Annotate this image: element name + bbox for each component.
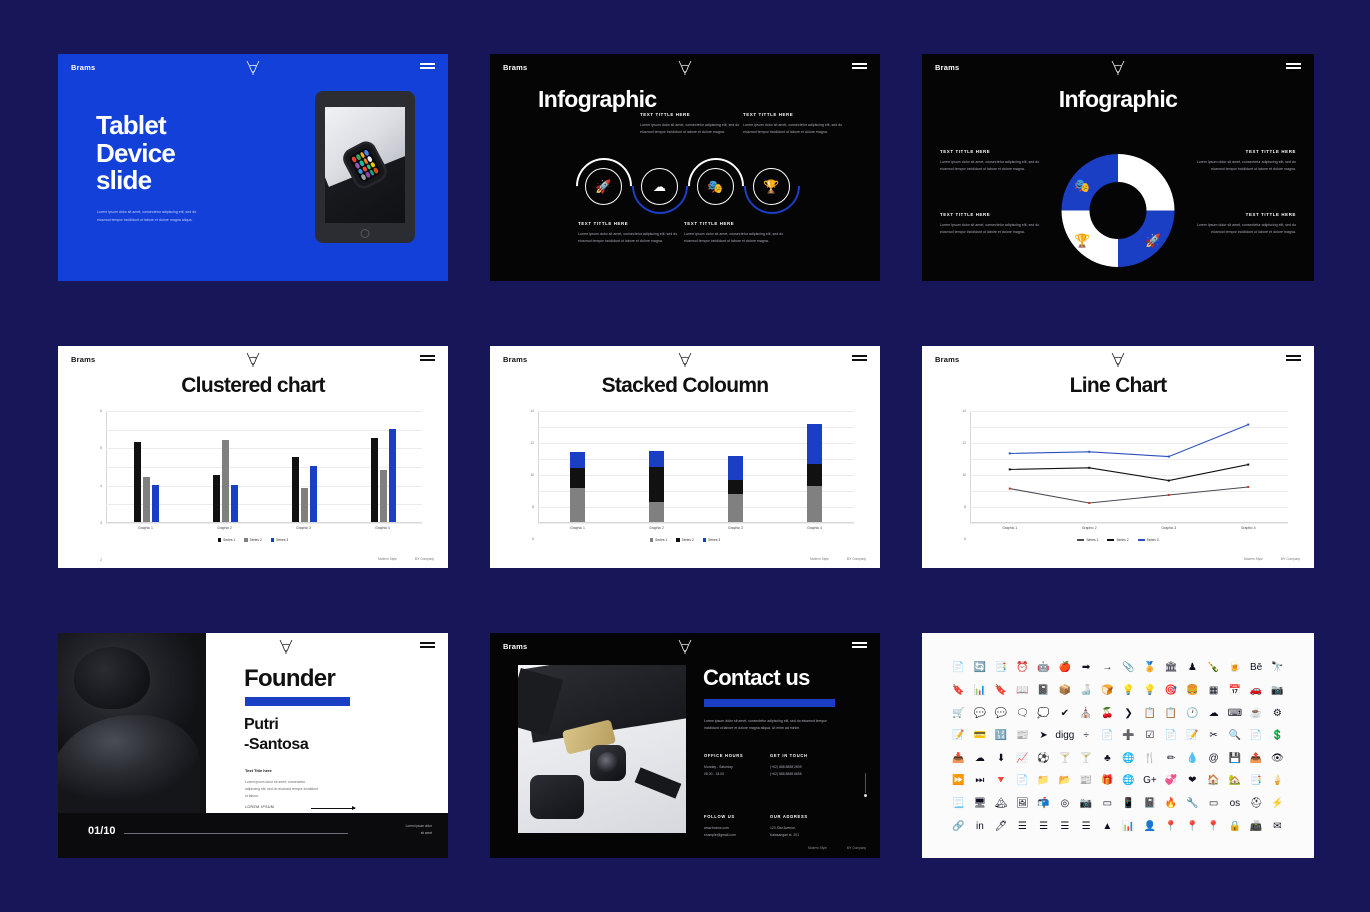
- sheet-icon-r2-c4[interactable]: 📖: [1016, 686, 1028, 696]
- arrow-right-icon: [311, 808, 355, 809]
- sheet-icon-r4-c9[interactable]: ➕: [1122, 731, 1134, 741]
- slide-infographic-circles[interactable]: Brams Infographic 🚀 ☁ 🎭 🏆 TEXT TITTLE HE: [490, 54, 880, 281]
- bar-segment: [649, 467, 664, 502]
- legend-label: Series 3: [276, 538, 288, 542]
- sheet-icon-r7-c4[interactable]: 🖼: [1016, 799, 1029, 809]
- slide-infographic-donut[interactable]: Brams Infographic 🎭 ☁ 🚀 🏆 TEXT TITTLE HE…: [922, 54, 1314, 281]
- brand-label: Brams: [935, 63, 959, 72]
- data-point: [1088, 502, 1090, 504]
- menu-icon[interactable]: [852, 63, 867, 69]
- brand-label: Brams: [503, 63, 527, 72]
- menu-icon[interactable]: [420, 63, 435, 69]
- legend-swatch: [1138, 539, 1145, 540]
- bar: [213, 475, 221, 522]
- segment-theater-masks-icon[interactable]: 🎭: [1074, 176, 1092, 194]
- x-tick-label: Graphic 2: [1050, 526, 1130, 530]
- donut-block-left-bottom: TEXT TITTLE HERE Lorem ipsum dolor sit a…: [940, 212, 1052, 237]
- sheet-icon-r3-c4[interactable]: 🗨: [1016, 709, 1029, 719]
- sheet-icon-r7-c3[interactable]: 🏔: [995, 799, 1008, 809]
- col-heading: OUR ADDRESS: [770, 814, 836, 819]
- block-heading: TEXT TITTLE HERE: [940, 149, 1052, 154]
- legend-swatch: [218, 538, 221, 541]
- x-tick-label: Graphic 3: [696, 526, 775, 530]
- slide-header: Brams: [490, 633, 880, 659]
- sheet-icon-r2-c13[interactable]: ▦: [1209, 686, 1218, 696]
- founder-panel: Founder Putri-Santosa Text Title here Lo…: [206, 633, 448, 813]
- sheet-icon-r8-c1[interactable]: 🔗: [952, 822, 964, 832]
- info-block-bottom-1: TEXT TITTLE HERE Lorem ipsum dolor sit a…: [578, 221, 690, 246]
- sheet-icon-r2-c5[interactable]: 📓: [1037, 686, 1049, 696]
- col-heading: FOLLOW US: [704, 814, 770, 819]
- x-tick-label: Graphic 3: [1129, 526, 1209, 530]
- sheet-icon-r7-c11[interactable]: 🔥: [1165, 799, 1177, 809]
- sheet-icon-r1-c6[interactable]: 🍎: [1059, 663, 1071, 673]
- donut-chart: 🎭 ☁ 🚀 🏆: [1062, 154, 1175, 267]
- founder-footer: 01/10 Lorem ipsum dolorsit amet: [58, 811, 448, 858]
- sheet-icon-r6-c1[interactable]: ⏩: [952, 776, 964, 786]
- data-point: [1168, 480, 1170, 482]
- sheet-icon-r5-c3[interactable]: ⬇: [997, 754, 1005, 764]
- block-body: Lorem ipsum dolor sit amet, consectetur …: [1184, 222, 1296, 237]
- block-body: Lorem ipsum dolor sit amet, consectetur …: [1184, 159, 1296, 174]
- sheet-icon-r7-c7[interactable]: 📷: [1080, 799, 1092, 809]
- line-series: [1010, 425, 1249, 457]
- x-axis-categories: Graphic 1Graphic 2Graphic 3Graphic 4: [106, 526, 422, 530]
- bar-segment: [649, 451, 664, 467]
- stacked-bar: [649, 451, 664, 522]
- bar-segment: [728, 494, 743, 522]
- sheet-icon-r6-c13[interactable]: 🏠: [1207, 776, 1219, 786]
- bar-segment: [728, 456, 743, 480]
- brand-label: Brams: [503, 642, 527, 651]
- menu-icon[interactable]: [1286, 63, 1301, 69]
- sheet-icon-r4-c10[interactable]: ☑: [1145, 731, 1154, 741]
- slide-header: Brams: [922, 54, 1314, 80]
- footer-note: Lorem ipsum dolorsit amet: [406, 823, 432, 836]
- sheet-icon-r5-c15[interactable]: 📤: [1250, 754, 1262, 764]
- bar-group: [371, 429, 397, 522]
- slide-header: Brams: [58, 346, 448, 372]
- sheet-icon-r1-c7[interactable]: ➡: [1082, 663, 1090, 673]
- footer-left: Modern Style: [808, 846, 827, 850]
- sheet-icon-r8-c4[interactable]: ☰: [1018, 822, 1027, 832]
- contact-product-image: [518, 665, 686, 833]
- slide-footer: Modern Style MY Company: [810, 557, 866, 561]
- sheet-icon-r7-c10[interactable]: 📓: [1144, 799, 1156, 809]
- bar-group: [292, 457, 318, 522]
- brand-label: Brams: [503, 355, 527, 364]
- sheet-icon-r3-c2[interactable]: 💬: [974, 709, 986, 719]
- contact-body-text: Lorem ipsum dolor sit amet, consectetur …: [704, 718, 832, 732]
- sheet-icon-r1-c5[interactable]: 🤖: [1037, 663, 1049, 673]
- sheet-icon-r4-c11[interactable]: 📄: [1165, 731, 1177, 741]
- segment-rocket-icon[interactable]: 🚀: [1145, 231, 1163, 249]
- bar: [152, 485, 160, 522]
- sheet-icon-r7-c16[interactable]: ⚡: [1271, 799, 1283, 809]
- legend-label: Series 1: [655, 538, 667, 542]
- legend-label: Series 1: [1086, 538, 1098, 542]
- info-block-bottom-2: TEXT TITTLE HERE Lorem ipsum dolor sit a…: [684, 221, 796, 246]
- sheet-icon-r2-c3[interactable]: 🔖: [995, 686, 1007, 696]
- sheet-icon-r5-c1[interactable]: 📥: [952, 754, 964, 764]
- legend-swatch: [703, 538, 706, 541]
- sheet-icon-r1-c12[interactable]: ♟: [1188, 663, 1197, 673]
- sheet-icon-r3-c5[interactable]: 💭: [1037, 709, 1049, 719]
- donut-block-right-bottom: TEXT TITTLE HERE Lorem ipsum dolor sit a…: [1184, 212, 1296, 237]
- slide-contact-us[interactable]: Brams Contact us Lorem ipsum dolor sit a…: [490, 633, 880, 858]
- sheet-icon-r4-c16[interactable]: 💲: [1271, 731, 1283, 741]
- node-rocket-icon[interactable]: 🚀: [585, 168, 622, 205]
- sheet-icon-r1-c15[interactable]: Bē: [1250, 663, 1262, 673]
- sheet-icon-r4-c8[interactable]: 📄: [1101, 731, 1113, 741]
- sheet-icon-r3-c10[interactable]: 📋: [1144, 709, 1156, 719]
- sheet-icon-r6-c9[interactable]: 🌐: [1122, 776, 1134, 786]
- legend-label: Series 2: [682, 538, 694, 542]
- sheet-icon-r6-c5[interactable]: 📁: [1037, 776, 1049, 786]
- sheet-icon-r6-c3[interactable]: 🔻: [995, 776, 1007, 786]
- footer-right: MY Company: [847, 846, 866, 850]
- sheet-icon-r1-c10[interactable]: 🏅: [1144, 663, 1156, 673]
- slide-icon-sheet[interactable]: 📄🔄📑⏰🤖🍎➡→📎🏅🏛♟🍾🍺Bē🔭🔖📊🔖📖📓📦🍶🍞💡💡🎯🍔▦📅🚗📷🛒💬💬🗨💭✔⛪…: [922, 633, 1314, 858]
- bar-group: [134, 442, 160, 522]
- sheet-icon-r8-c11[interactable]: 📍: [1165, 822, 1177, 832]
- block-heading: TEXT TITTLE HERE: [940, 212, 1052, 217]
- gridline: 6: [106, 411, 422, 412]
- sheet-icon-r8-c15[interactable]: 📠: [1250, 822, 1262, 832]
- sheet-icon-r6-c10[interactable]: G+: [1143, 776, 1157, 786]
- sheet-icon-r5-c2[interactable]: ☁: [975, 754, 985, 764]
- sheet-icon-r5-c16[interactable]: 👁: [1271, 754, 1284, 764]
- segment-cloud-icon[interactable]: ☁: [1145, 176, 1163, 194]
- sheet-icon-r2-c10[interactable]: 💡: [1144, 686, 1156, 696]
- sheet-icon-r6-c14[interactable]: 🏡: [1229, 776, 1241, 786]
- legend-item: Series 3: [703, 538, 721, 542]
- sheet-icon-r8-c12[interactable]: 📍: [1186, 822, 1198, 832]
- sheet-icon-r1-c11[interactable]: 🏛: [1165, 663, 1178, 673]
- brams-logo-icon: [245, 351, 261, 369]
- sheet-icon-r2-c6[interactable]: 📦: [1059, 686, 1071, 696]
- smartwatch-image: [343, 141, 387, 189]
- founder-name: Putri-Santosa: [244, 715, 308, 754]
- sheet-icon-r8-c7[interactable]: ☰: [1082, 822, 1091, 832]
- sheet-icon-r4-c12[interactable]: 📝: [1186, 731, 1198, 741]
- brams-logo-icon: [1110, 59, 1126, 77]
- brams-logo-icon: [245, 59, 261, 77]
- sheet-icon-r7-c15[interactable]: ⛑: [1250, 799, 1263, 809]
- data-point: [1247, 464, 1249, 466]
- clustered-chart-plot: 0123456: [106, 411, 422, 523]
- chart-legend: Series 1Series 2Series 3: [490, 538, 880, 542]
- sheet-icon-r8-c9[interactable]: 📊: [1122, 822, 1134, 832]
- segment-trophy-icon[interactable]: 🏆: [1074, 231, 1092, 249]
- sheet-icon-r5-c12[interactable]: 💧: [1186, 754, 1198, 764]
- y-tick-label: 6: [100, 409, 102, 413]
- infographic-node-row: 🚀 ☁ 🎭 🏆: [580, 162, 816, 210]
- sheet-icon-r4-c15[interactable]: 📄: [1250, 731, 1262, 741]
- sheet-icon-r6-c15[interactable]: 📑: [1250, 776, 1262, 786]
- sheet-icon-r4-c1[interactable]: 📝: [952, 731, 964, 741]
- sheet-icon-r2-c2[interactable]: 📊: [974, 686, 986, 696]
- sheet-icon-r3-c8[interactable]: 🍒: [1101, 709, 1113, 719]
- founder-portrait-image: [58, 633, 206, 813]
- line-series: [1010, 487, 1249, 503]
- sheet-icon-r2-c9[interactable]: 💡: [1122, 686, 1134, 696]
- sheet-icon-r4-c3[interactable]: 🔢: [995, 731, 1007, 741]
- slide-line-chart[interactable]: Brams Line Chart 02468101214 Graphic 1Gr…: [922, 346, 1314, 568]
- sheet-icon-r5-c7[interactable]: 🍸: [1080, 754, 1092, 764]
- bar: [389, 429, 397, 522]
- legend-swatch: [1107, 539, 1114, 540]
- sheet-icon-r4-c14[interactable]: 🔍: [1229, 731, 1241, 741]
- bar-segment: [570, 488, 585, 522]
- col-heading: OFFICE HOURS: [704, 753, 770, 758]
- slide-title: Infographic: [922, 86, 1314, 113]
- sheet-icon-r3-c6[interactable]: ✔: [1061, 709, 1069, 719]
- line-series-layer: [970, 411, 1288, 523]
- sheet-icon-r7-c12[interactable]: 🔧: [1186, 799, 1198, 809]
- sheet-icon-r1-c2[interactable]: 🔄: [974, 663, 986, 673]
- x-tick-label: Graphic 1: [970, 526, 1050, 530]
- sheet-icon-r3-c16[interactable]: ⚙: [1273, 709, 1282, 719]
- y-tick-label: 12: [530, 441, 534, 445]
- legend-label: Series 2: [250, 538, 262, 542]
- bar: [134, 442, 142, 522]
- brams-logo-icon: [677, 351, 693, 369]
- legend-label: Series 2: [1116, 538, 1128, 542]
- sheet-icon-r4-c13[interactable]: ✂: [1209, 731, 1217, 741]
- sheet-icon-r6-c4[interactable]: 📄: [1016, 776, 1028, 786]
- page-number: 01/10: [88, 825, 116, 837]
- cta-link[interactable]: LOREM IPSUM: [245, 805, 274, 809]
- sheet-icon-r5-c4[interactable]: 📈: [1016, 754, 1028, 764]
- col-lines: Monday - Saturday08.00 - 18.00: [704, 764, 770, 778]
- sheet-icon-r1-c9[interactable]: 📎: [1122, 663, 1134, 673]
- sheet-icon-r3-c11[interactable]: 📋: [1165, 709, 1177, 719]
- x-tick-label: Graphic 1: [538, 526, 617, 530]
- sheet-icon-r4-c7[interactable]: ÷: [1083, 731, 1089, 741]
- bar: [231, 485, 239, 522]
- sheet-icon-r7-c14[interactable]: os: [1230, 799, 1241, 809]
- legend-swatch: [244, 538, 247, 541]
- footer-divider: [124, 833, 348, 834]
- sheet-icon-r8-c14[interactable]: 🔒: [1229, 822, 1241, 832]
- slide-footer: Modern Style MY Company: [378, 557, 434, 561]
- sheet-icon-r3-c15[interactable]: ☕: [1250, 709, 1262, 719]
- bar: [380, 470, 388, 522]
- menu-icon[interactable]: [420, 642, 435, 648]
- contact-col-office-hours: OFFICE HOURS Monday - Saturday08.00 - 18…: [704, 753, 770, 778]
- legend-item: Series 1: [650, 538, 668, 542]
- x-tick-label: Graphic 4: [1209, 526, 1289, 530]
- col-lines: www.brams.comexample@gmail.com: [704, 825, 770, 839]
- sheet-icon-r2-c16[interactable]: 📷: [1271, 686, 1283, 696]
- slide-clustered-chart[interactable]: Brams Clustered chart 0123456 Graphic 1G…: [58, 346, 448, 568]
- brand-label: Brams: [935, 355, 959, 364]
- sheet-icon-r5-c6[interactable]: 🍸: [1059, 754, 1071, 764]
- y-tick-label: 14: [962, 409, 966, 413]
- bar-segment: [570, 452, 585, 468]
- menu-icon[interactable]: [1286, 355, 1301, 361]
- sheet-icon-r1-c14[interactable]: 🍺: [1229, 663, 1241, 673]
- info-block-top-2: TEXT TITTLE HERE Lorem ipsum dolor sit a…: [743, 112, 855, 137]
- slide-title: Founder: [244, 665, 335, 693]
- sheet-icon-r6-c6[interactable]: 📂: [1059, 776, 1071, 786]
- legend-swatch: [676, 538, 679, 541]
- sheet-icon-r6-c16[interactable]: 🍦: [1271, 776, 1283, 786]
- bar-segment: [570, 468, 585, 487]
- sheet-icon-r1-c8[interactable]: →: [1102, 663, 1112, 673]
- bar-segment: [649, 502, 664, 522]
- sheet-icon-r2-c14[interactable]: 📅: [1229, 686, 1241, 696]
- block-body: Lorem ipsum dolor sit amet, consectetur …: [640, 122, 752, 137]
- col-heading: GET IN TOUCH: [770, 753, 836, 758]
- sheet-icon-r7-c1[interactable]: 📃: [952, 799, 964, 809]
- block-body: Lorem ipsum dolor sit amet, consectetur …: [940, 222, 1052, 237]
- sheet-icon-r8-c10[interactable]: 👤: [1144, 822, 1156, 832]
- sheet-icon-r7-c2[interactable]: 🖥: [974, 799, 987, 809]
- brand-label: Brams: [71, 63, 95, 72]
- slide-founder[interactable]: Founder Putri-Santosa Text Title here Lo…: [58, 633, 448, 858]
- brand-label: Brams: [71, 355, 95, 364]
- sheet-icon-r5-c11[interactable]: ✏: [1167, 754, 1175, 764]
- gridline: 14: [538, 411, 854, 412]
- line-chart-plot: 02468101214: [970, 411, 1288, 523]
- sheet-icon-r7-c13[interactable]: ▭: [1209, 799, 1218, 809]
- sheet-icon-r6-c12[interactable]: ❤: [1188, 776, 1196, 786]
- sheet-icon-r4-c6[interactable]: digg: [1055, 731, 1074, 741]
- legend-swatch: [1077, 539, 1084, 540]
- data-point: [1247, 486, 1249, 488]
- sheet-icon-r1-c13[interactable]: 🍾: [1207, 663, 1219, 673]
- node-trophy-icon[interactable]: 🏆: [753, 168, 790, 205]
- sheet-icon-r4-c5[interactable]: ➤: [1039, 731, 1047, 741]
- legend-item: Series 2: [676, 538, 694, 542]
- gridline: 0: [538, 523, 854, 524]
- sheet-icon-r4-c2[interactable]: 💳: [974, 731, 986, 741]
- x-tick-label: Graphic 1: [106, 526, 185, 530]
- chart-legend: Series 1Series 2Series 3: [58, 538, 448, 542]
- block-heading: TEXT TITTLE HERE: [578, 221, 690, 226]
- sheet-icon-r3-c14[interactable]: ⌨: [1228, 709, 1242, 719]
- sheet-icon-r7-c5[interactable]: 📬: [1037, 799, 1049, 809]
- legend-swatch: [650, 538, 653, 541]
- slide-header: Brams: [490, 346, 880, 372]
- sheet-icon-r2-c7[interactable]: 🍶: [1080, 686, 1092, 696]
- footer-left: Modern Style: [378, 557, 397, 561]
- menu-icon[interactable]: [852, 355, 867, 361]
- sheet-icon-r1-c1[interactable]: 📄: [952, 663, 964, 673]
- sheet-icon-r8-c3[interactable]: 🖊: [995, 822, 1008, 832]
- sheet-icon-r1-c16[interactable]: 🔭: [1271, 663, 1283, 673]
- icon-grid: 📄🔄📑⏰🤖🍎➡→📎🏅🏛♟🍾🍺Bē🔭🔖📊🔖📖📓📦🍶🍞💡💡🎯🍔▦📅🚗📷🛒💬💬🗨💭✔⛪…: [948, 657, 1288, 838]
- slide-tablet-device[interactable]: Brams TabletDeviceslide Lorem ipsum dolo…: [58, 54, 448, 281]
- sheet-icon-r8-c8[interactable]: ▲: [1102, 822, 1112, 832]
- data-point: [1009, 468, 1011, 470]
- slide-deck: Brams TabletDeviceslide Lorem ipsum dolo…: [0, 0, 1370, 912]
- gridline: 0: [106, 523, 422, 524]
- sheet-icon-r8-c5[interactable]: ☰: [1039, 822, 1048, 832]
- data-point: [1009, 452, 1011, 454]
- sheet-icon-r2-c8[interactable]: 🍞: [1101, 686, 1113, 696]
- block-heading: TEXT TITTLE HERE: [1184, 149, 1296, 154]
- sheet-icon-r6-c11[interactable]: 💞: [1165, 776, 1177, 786]
- sheet-icon-r5-c9[interactable]: 🌐: [1122, 754, 1134, 764]
- accent-bar: [245, 697, 350, 706]
- node-theater-masks-icon[interactable]: 🎭: [697, 168, 734, 205]
- sheet-icon-r6-c2[interactable]: ⏭: [975, 776, 984, 786]
- sheet-icon-r3-c1[interactable]: 🛒: [952, 709, 964, 719]
- legend-item: Series 3: [1138, 538, 1159, 542]
- contact-col-get-in-touch: GET IN TOUCH (+62) 888 8888 2699(+62) 88…: [770, 753, 836, 778]
- slide-footer: Modern Style MY Company: [808, 846, 866, 850]
- sheet-icon-r6-c8[interactable]: 🎁: [1101, 776, 1113, 786]
- sheet-icon-r7-c6[interactable]: ◎: [1061, 799, 1070, 809]
- sheet-icon-r3-c3[interactable]: 💬: [995, 709, 1007, 719]
- sheet-icon-r5-c14[interactable]: 💾: [1229, 754, 1241, 764]
- sheet-icon-r2-c15[interactable]: 🚗: [1250, 686, 1262, 696]
- slide-footer: Modern Style MY Company: [1244, 557, 1300, 561]
- sheet-icon-r3-c12[interactable]: 🕐: [1186, 709, 1198, 719]
- bar: [222, 440, 230, 522]
- sheet-icon-r1-c4[interactable]: ⏰: [1016, 663, 1028, 673]
- y-tick-label: 14: [530, 409, 534, 413]
- sheet-icon-r2-c1[interactable]: 🔖: [952, 686, 964, 696]
- sheet-icon-r3-c7[interactable]: ⛪: [1080, 709, 1092, 719]
- data-point: [1088, 451, 1090, 453]
- legend-label: Series 3: [708, 538, 720, 542]
- sheet-icon-r4-c4[interactable]: 📰: [1016, 731, 1028, 741]
- bar: [371, 438, 379, 522]
- slide-title: TabletDeviceslide: [96, 112, 175, 195]
- block-body: Lorem ipsum dolor sit amet, consectetur …: [684, 231, 796, 246]
- brams-logo-icon: [677, 59, 693, 77]
- col-lines: 123 Star Avenue,Kalasangan st. 201: [770, 825, 836, 839]
- sheet-icon-r7-c9[interactable]: 📱: [1122, 799, 1134, 809]
- sheet-icon-r5-c5[interactable]: ⚽: [1037, 754, 1049, 764]
- node-cloud-icon[interactable]: ☁: [641, 168, 678, 205]
- block-body: Lorem ipsum dolor sit amet, consectetur …: [743, 122, 855, 137]
- sheet-icon-r3-c13[interactable]: ☁: [1209, 709, 1219, 719]
- sheet-icon-r2-c12[interactable]: 🍔: [1186, 686, 1198, 696]
- x-tick-label: Graphic 4: [343, 526, 422, 530]
- data-point: [1247, 424, 1249, 426]
- bar-segment: [728, 480, 743, 494]
- chart-legend: Series 1Series 2Series 3: [922, 538, 1314, 542]
- menu-icon[interactable]: [852, 642, 867, 648]
- sheet-icon-r8-c13[interactable]: 📍: [1207, 822, 1219, 832]
- sheet-icon-r7-c8[interactable]: ▭: [1103, 799, 1112, 809]
- footer-left: Modern Style: [810, 557, 829, 561]
- slide-header: Brams: [922, 346, 1314, 372]
- scroll-indicator[interactable]: [865, 773, 866, 793]
- sheet-icon-r1-c3[interactable]: 📑: [995, 663, 1007, 673]
- sheet-icon-r5-c8[interactable]: ♣: [1104, 754, 1111, 764]
- sheet-icon-r8-c16[interactable]: ✉: [1273, 822, 1281, 832]
- stacked-bar: [728, 456, 743, 522]
- sheet-icon-r2-c11[interactable]: 🎯: [1165, 686, 1177, 696]
- slide-stacked-coloumn[interactable]: Brams Stacked Coloumn 02468101214 Graphi…: [490, 346, 880, 568]
- sheet-icon-r6-c7[interactable]: 📰: [1080, 776, 1092, 786]
- sheet-icon-r3-c9[interactable]: ❯: [1124, 709, 1132, 719]
- bar-group: [213, 440, 239, 522]
- founder-body-text: Lorem ipsum dolor sit amet, consectetur …: [245, 779, 319, 799]
- legend-item: Series 2: [1107, 538, 1128, 542]
- sheet-icon-r8-c2[interactable]: in: [976, 822, 984, 832]
- sheet-icon-r8-c6[interactable]: ☰: [1060, 822, 1069, 832]
- sheet-icon-r5-c13[interactable]: @: [1209, 754, 1219, 764]
- sheet-icon-r5-c10[interactable]: 🍴: [1144, 754, 1156, 764]
- menu-icon[interactable]: [420, 355, 435, 361]
